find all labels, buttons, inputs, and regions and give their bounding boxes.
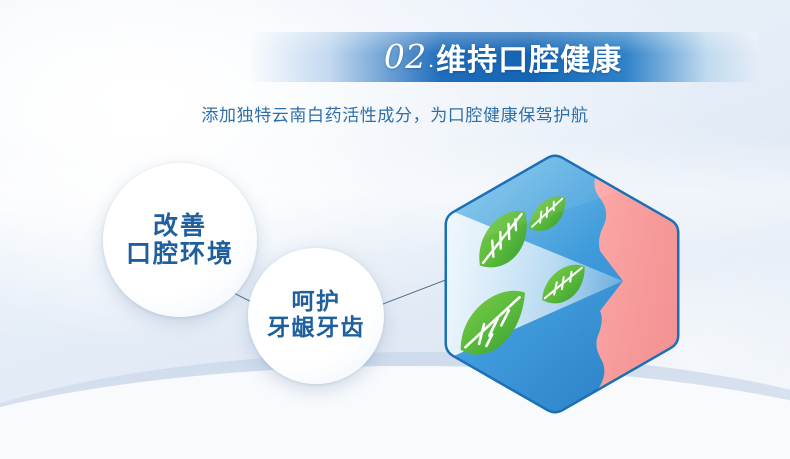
benefit-circle-2-line2: 牙龈牙齿 xyxy=(267,316,365,342)
benefit-circle-1-line2: 口腔环境 xyxy=(126,240,234,268)
benefit-circle-1-line1: 改善 xyxy=(153,212,207,240)
section-title-banner: 02 . 维持口腔健康 xyxy=(248,32,758,82)
section-subtitle: 添加独特云南白药活性成分，为口腔健康保驾护航 xyxy=(0,101,790,126)
section-number: 02 xyxy=(384,40,427,73)
banner-title-row: 02 . 维持口腔健康 xyxy=(248,32,758,82)
benefit-circle-2-line1: 呵护 xyxy=(292,290,341,316)
page-title: 维持口腔健康 xyxy=(436,35,622,79)
benefit-circle-care-gums-teeth[interactable]: 呵护 牙龈牙齿 xyxy=(248,248,384,384)
benefit-circle-improve-oral-environment[interactable]: 改善 口腔环境 xyxy=(103,163,257,317)
section-separator: . xyxy=(428,48,434,72)
promo-banner-canvas: 02 . 维持口腔健康 添加独特云南白药活性成分，为口腔健康保驾护航 改善 口腔… xyxy=(0,0,790,459)
hexagon-illustration xyxy=(437,153,687,415)
